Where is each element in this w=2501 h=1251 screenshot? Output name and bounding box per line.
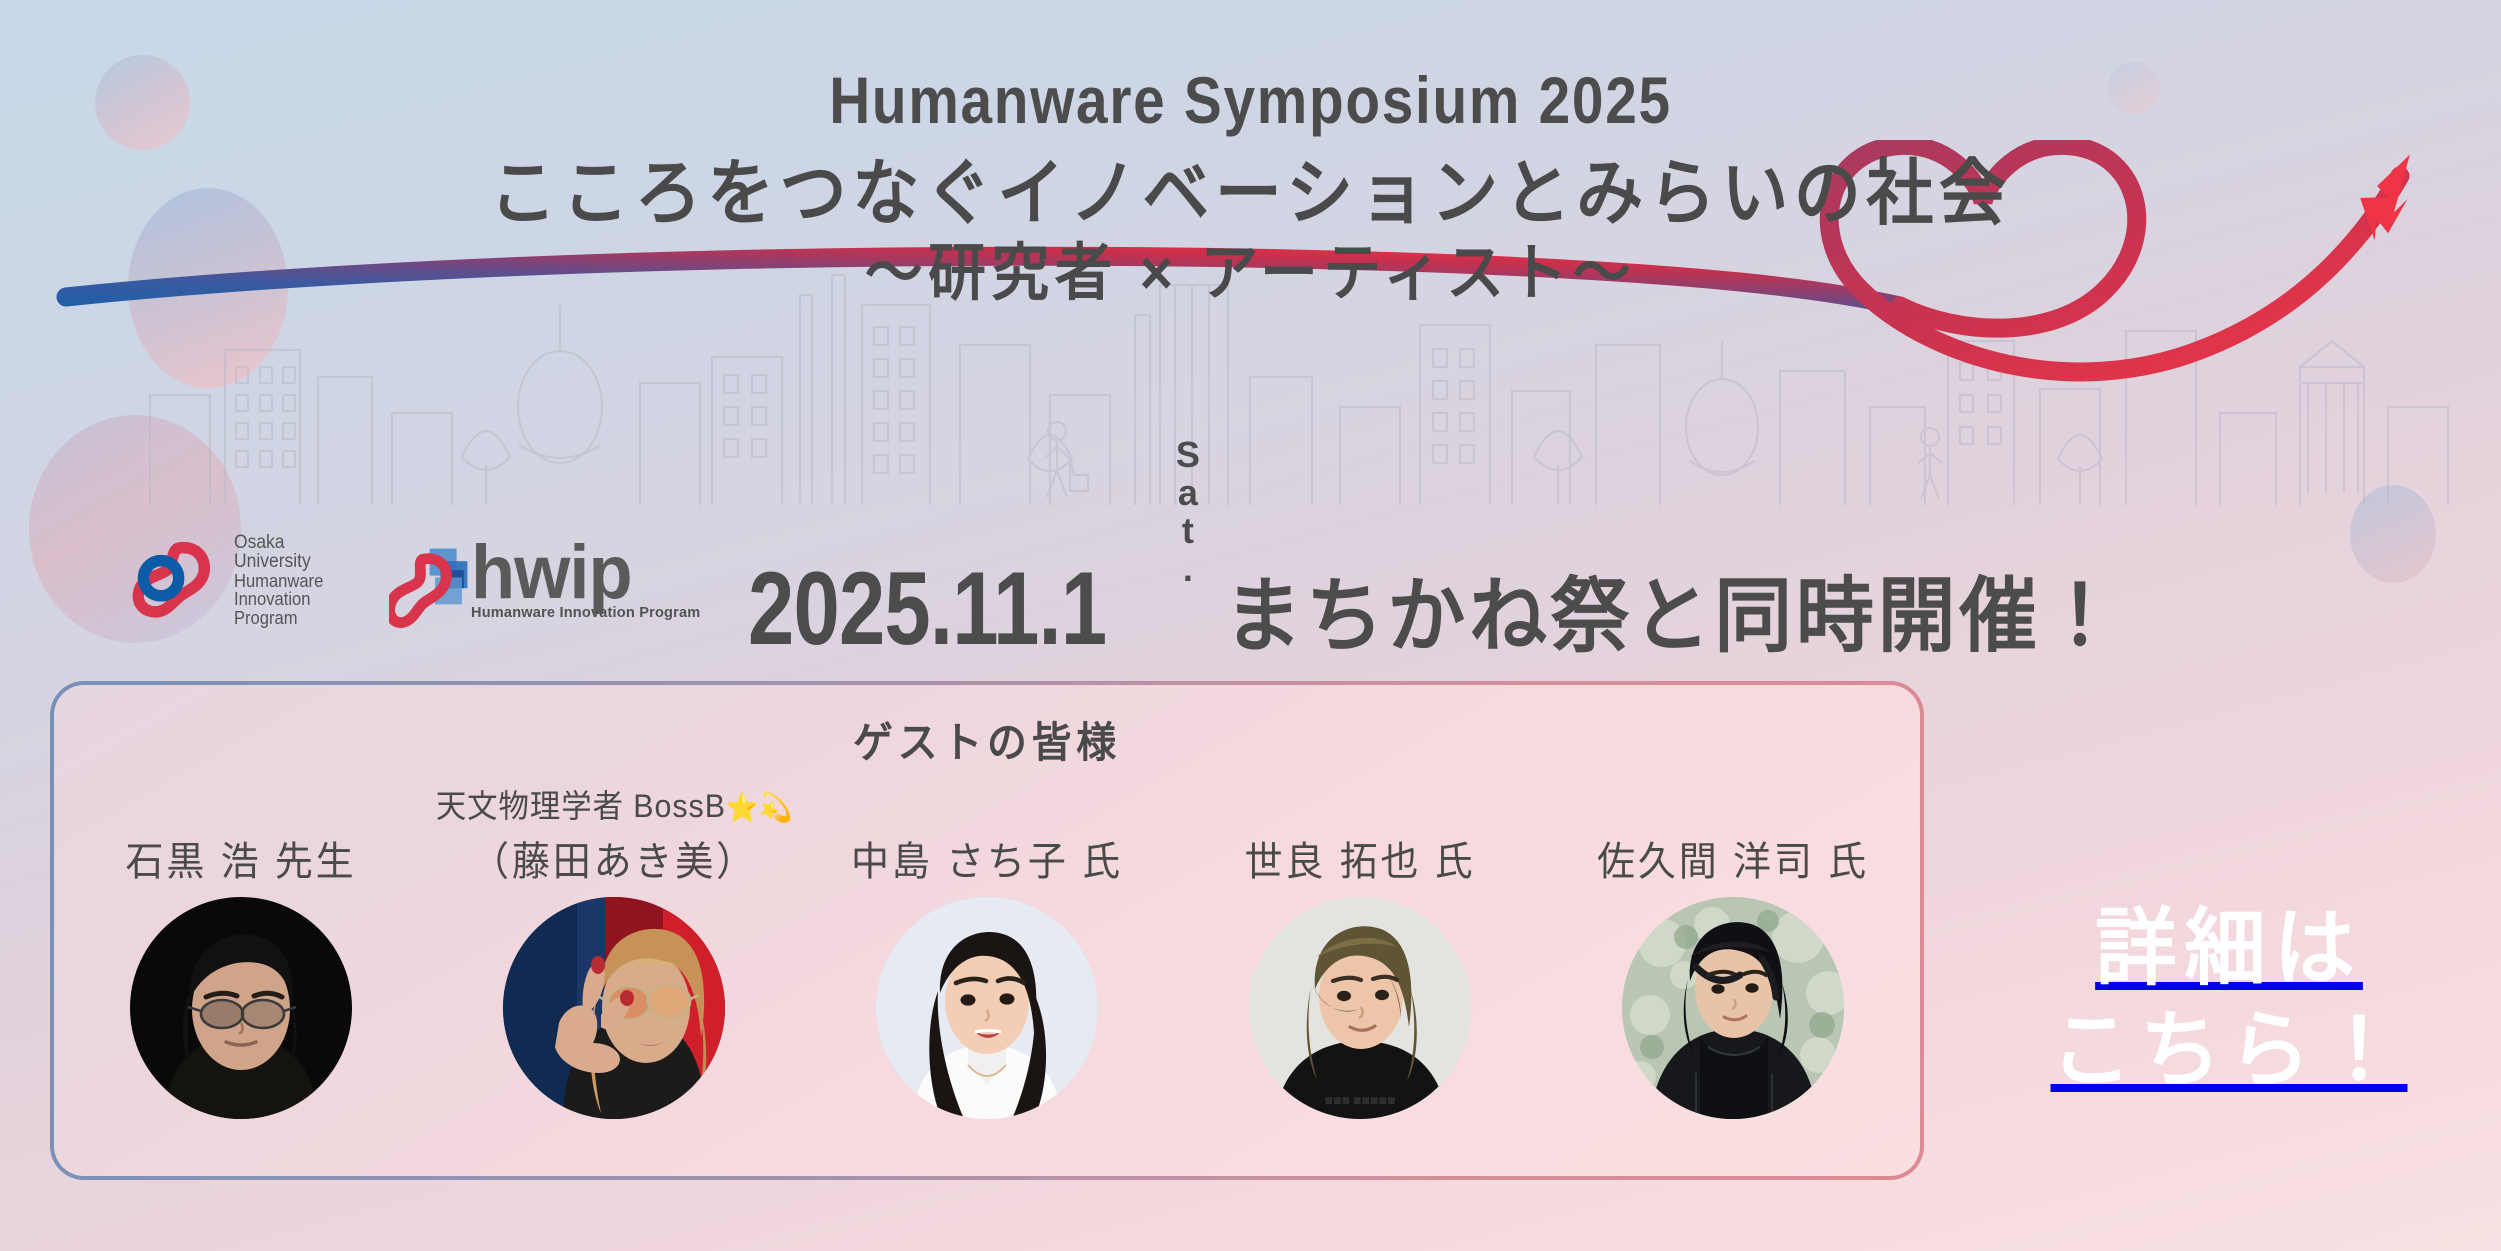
guest-0-name: 石黒 浩 先生 [125, 829, 356, 887]
guest-4-name: 佐久間 洋司 氏 [1597, 829, 1869, 887]
svg-text:■■■ ■■■■■: ■■■ ■■■■■ [1325, 1096, 1396, 1106]
guest-1-title-text: 天文物理学者 BossB [436, 788, 726, 824]
headline-japanese-line2: 〜研究者 × アーティスト〜 [88, 240, 2414, 308]
ou-line-humanware: Humanware [234, 572, 323, 590]
guest-panel-inner: ゲストの皆様 石黒 浩 先生 天文物理学者 BossB⭐💫 （藤田あき美） 中島… [54, 685, 1920, 1176]
ou-line-university: University [234, 552, 323, 571]
guest-3-avatar: ■■■ ■■■■■ [1249, 897, 1471, 1119]
guest-3-name: 世良 拓也 氏 [1245, 829, 1476, 887]
guest-panel: ゲストの皆様 石黒 浩 先生 天文物理学者 BossB⭐💫 （藤田あき美） 中島… [50, 681, 1924, 1180]
osaka-university-logo: Osaka University Humanware Innovation Pr… [132, 533, 331, 627]
sparkle-star-icon: ⭐💫 [726, 792, 792, 823]
ou-line-program: Program [234, 609, 323, 627]
details-cta-button[interactable]: 詳細は こちら！ [2003, 780, 2455, 1218]
event-weekday: Sat. [1171, 434, 1202, 586]
cta-line-2: こちら！ [2051, 999, 2408, 1101]
guest-name-cell: 天文物理学者 BossB⭐💫 （藤田あき美） [427, 781, 800, 889]
osaka-university-wordmark: Osaka University Humanware Innovation Pr… [234, 533, 331, 627]
guest-2-name: 中島 さち子 氏 [851, 829, 1123, 887]
hwip-trefoil-squares-icon [389, 545, 467, 621]
cta-line-1: 詳細は [2095, 897, 2363, 999]
guest-2-avatar [876, 897, 1098, 1119]
headline-english: Humanware Symposium 2025 [175, 62, 2326, 138]
guest-photo-cell [427, 897, 800, 1167]
guest-name-cell: 石黒 浩 先生 [54, 781, 427, 889]
guest-1-avatar [503, 897, 725, 1119]
guest-photos-row: ■■■ ■■■■■ [54, 897, 1920, 1167]
guest-name-cell: 中島 さち子 氏 [800, 781, 1173, 889]
logo-date-strip: Osaka University Humanware Innovation Pr… [0, 522, 2501, 638]
hwip-trefoil-icon [132, 536, 220, 624]
poster-root: Humanware Symposium 2025 こころをつなぐイノベーションと… [0, 0, 2501, 1251]
event-date: 2025.11.1 [748, 557, 1106, 661]
guest-photo-cell [54, 897, 427, 1167]
guest-photo-cell [800, 897, 1173, 1167]
headline-block: Humanware Symposium 2025 こころをつなぐイノベーションと… [0, 0, 2501, 308]
hwip-tagline: Humanware Innovation Program [471, 604, 700, 621]
event-date-line: 2025.11.1 Sat. まちかね祭と同時開催！ [748, 492, 2171, 668]
hwip-logo: hwip Humanware Innovation Program [389, 539, 707, 620]
ou-line-innovation: Innovation [234, 590, 323, 608]
guest-name-cell: 世良 拓也 氏 [1174, 781, 1547, 889]
guest-0-avatar [130, 897, 352, 1119]
guest-4-avatar [1622, 897, 1844, 1119]
guest-names-row: 石黒 浩 先生 天文物理学者 BossB⭐💫 （藤田あき美） 中島 さち子 氏 … [54, 781, 1920, 889]
hwip-wordmark: hwip [471, 539, 696, 607]
guest-photo-cell [1547, 897, 1920, 1167]
hwip-wordmark-block: hwip Humanware Innovation Program [471, 539, 707, 620]
guest-section-title: ゲストの皆様 [101, 685, 1874, 770]
ou-line-osaka: Osaka [234, 533, 323, 552]
guest-1-top-label: 天文物理学者 BossB⭐💫 [436, 781, 792, 827]
guest-1-name: （藤田あき美） [471, 829, 757, 887]
co-event-note: まちかね祭と同時開催！ [1224, 549, 2123, 668]
guest-photo-cell: ■■■ ■■■■■ [1174, 897, 1547, 1167]
headline-japanese-line1: こころをつなぐイノベーションとみらいの社会 [88, 156, 2414, 234]
guest-name-cell: 佐久間 洋司 氏 [1547, 781, 1920, 889]
